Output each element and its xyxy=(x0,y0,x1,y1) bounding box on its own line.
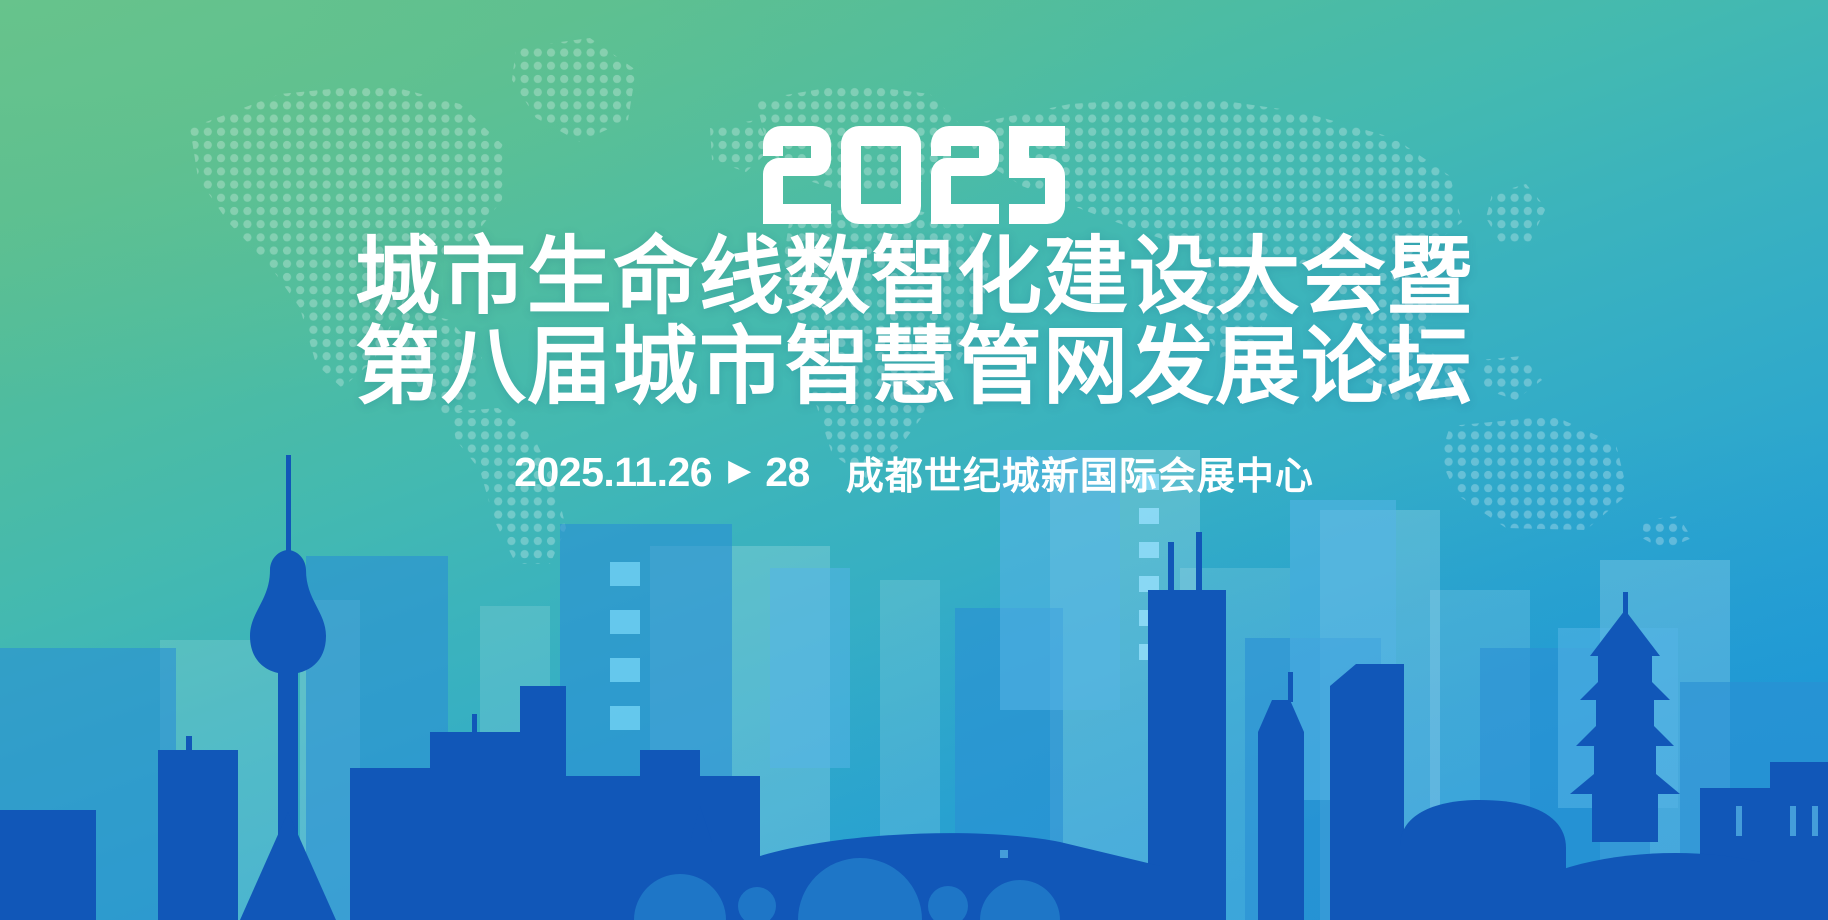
event-date-end: 28 xyxy=(765,449,810,496)
conference-banner: 城市生命线数智化建设大会暨 第八届城市智慧管网发展论坛 2025.11.26 ▶… xyxy=(0,0,1828,920)
city-skyline-graphic xyxy=(0,450,1828,920)
banner-text-block: 城市生命线数智化建设大会暨 第八届城市智慧管网发展论坛 2025.11.26 ▶… xyxy=(0,126,1828,500)
banner-meta-row: 2025.11.26 ▶ 28 成都世纪城新国际会展中心 xyxy=(0,445,1828,500)
event-date-start: 2025.11.26 xyxy=(514,449,712,496)
banner-title-line-1: 城市生命线数智化建设大会暨 xyxy=(0,234,1828,322)
event-venue: 成都世纪城新国际会展中心 xyxy=(846,445,1314,500)
twin-spire-tower xyxy=(1148,532,1226,920)
year-2025 xyxy=(0,126,1828,224)
date-range-arrow-icon: ▶ xyxy=(728,456,751,486)
banner-title-line-2: 第八届城市智慧管网发展论坛 xyxy=(0,324,1828,412)
